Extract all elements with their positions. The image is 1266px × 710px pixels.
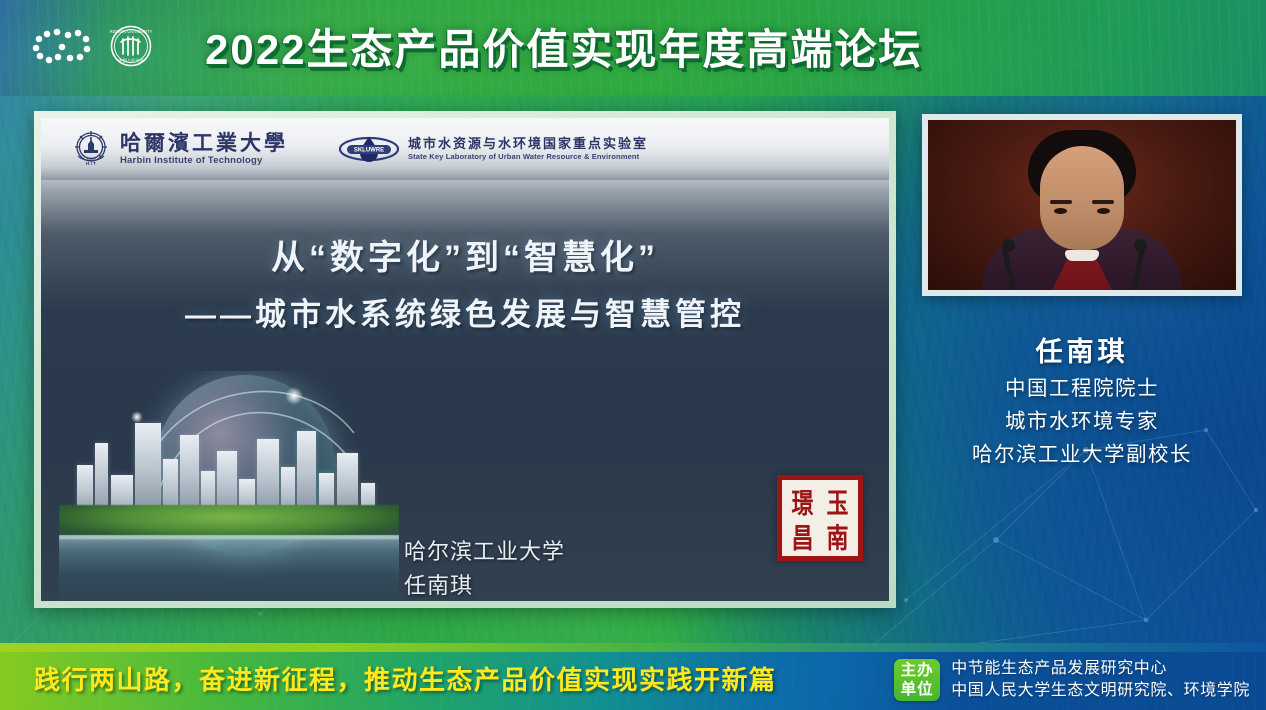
seal-char: 昌 [786, 515, 819, 556]
hit-university-logo: 1920 H I T 哈爾濱工業大學 Harbin Institute of T… [71, 129, 288, 169]
header-logo-row: RENMIN UNIVERSITY 中国人民大学 [30, 25, 152, 67]
speaker-title-list: 中国工程院院士 城市水环境专家 哈尔滨工业大学副校长 [902, 372, 1262, 471]
organizer-badge: 主办 单位 [894, 659, 940, 701]
speaker-photo-frame [922, 114, 1242, 296]
page-title: 2022生态产品价值实现年度高端论坛 [205, 22, 1105, 78]
lab-emblem-icon: SKLUWRE [338, 134, 400, 164]
speaker-mouth [1065, 250, 1099, 261]
state-key-lab-logo: SKLUWRE 城市水资源与水环境国家重点实验室 State Key Labor… [338, 134, 648, 164]
microphone-head [1002, 239, 1015, 252]
banner-accent-strip [0, 643, 1266, 652]
speaker-title: 哈尔滨工业大学副校长 [902, 438, 1262, 471]
forum-broadcast-screen: RENMIN UNIVERSITY 中国人民大学 2022生态产品价值实现年度高… [0, 0, 1266, 710]
lab-name-block: 城市水资源与水环境国家重点实验室 State Key Laboratory of… [408, 137, 648, 162]
city-illustration [59, 371, 399, 601]
forum-infinity-logo-icon [30, 26, 92, 66]
organizer-name: 中节能生态产品发展研究中心 [951, 658, 1250, 680]
organizer-names: 中节能生态产品发展研究中心 中国人民大学生态文明研究院、环境学院 [951, 658, 1250, 702]
slide-title-line1: 从“数字化”到“智慧化” [41, 234, 889, 283]
speaker-brow [1092, 200, 1114, 204]
svg-text:H I T: H I T [86, 161, 96, 166]
hit-name-en: Harbin Institute of Technology [120, 156, 288, 166]
red-seal-stamp: 璟 玉 昌 南 [777, 475, 863, 561]
organizer-badge-line1: 主办 [901, 661, 934, 680]
light-glint [285, 387, 303, 405]
organizer-block: 主办 单位 中节能生态产品发展研究中心 中国人民大学生态文明研究院、环境学院 [894, 658, 1250, 702]
microphone-head [1134, 239, 1147, 252]
banner-slogan: 践行两山路，奋进新征程，推动生态产品价值实现实践开新篇 [34, 660, 777, 697]
university-seal-logo-icon: RENMIN UNIVERSITY 中国人民大学 [110, 25, 152, 67]
slide-header-bar: 1920 H I T 哈爾濱工業大學 Harbin Institute of T… [41, 118, 889, 180]
organizer-badge-line2: 单位 [901, 680, 934, 699]
svg-text:RENMIN UNIVERSITY: RENMIN UNIVERSITY [110, 29, 152, 34]
hit-name-block: 哈爾濱工業大學 Harbin Institute of Technology [120, 132, 288, 166]
presentation-slide: 1920 H I T 哈爾濱工業大學 Harbin Institute of T… [41, 118, 889, 601]
speaker-photo [928, 120, 1236, 290]
speaker-title: 中国工程院院士 [902, 372, 1262, 405]
seal-char: 南 [821, 515, 854, 556]
slide-title-line2: ——城市水系统绿色发展与智慧管控 [41, 293, 889, 338]
lab-name-cn: 城市水资源与水环境国家重点实验室 [408, 137, 648, 151]
lab-name-en: State Key Laboratory of Urban Water Reso… [408, 153, 648, 161]
light-glint [131, 411, 143, 423]
speaker-face [1040, 146, 1124, 250]
slide-title: 从“数字化”到“智慧化” ——城市水系统绿色发展与智慧管控 [41, 234, 889, 338]
slide-author-affiliation: 哈尔滨工业大学 [404, 535, 567, 569]
svg-text:中国人民大学: 中国人民大学 [118, 57, 143, 64]
slide-author-name: 任南琪 [404, 569, 567, 601]
slide-author-block: 哈尔滨工业大学 任南琪 rnq@hit.edu.cn [404, 535, 567, 601]
greenery-band [59, 505, 399, 539]
speaker-title: 城市水环境专家 [902, 405, 1262, 438]
organizer-name: 中国人民大学生态文明研究院、环境学院 [951, 680, 1250, 702]
speaker-eye [1054, 208, 1067, 214]
speaker-eye [1097, 208, 1110, 214]
speaker-name: 任南琪 [922, 330, 1242, 369]
svg-text:SKLUWRE: SKLUWRE [354, 148, 384, 154]
presentation-slide-frame: 1920 H I T 哈爾濱工業大學 Harbin Institute of T… [34, 111, 896, 608]
page-header: RENMIN UNIVERSITY 中国人民大学 2022生态产品价值实现年度高… [0, 0, 1266, 96]
hit-name-cn: 哈爾濱工業大學 [120, 132, 288, 154]
speaker-brow [1050, 200, 1072, 204]
water-reflection [59, 535, 399, 601]
hit-emblem-icon: 1920 H I T [71, 129, 111, 169]
